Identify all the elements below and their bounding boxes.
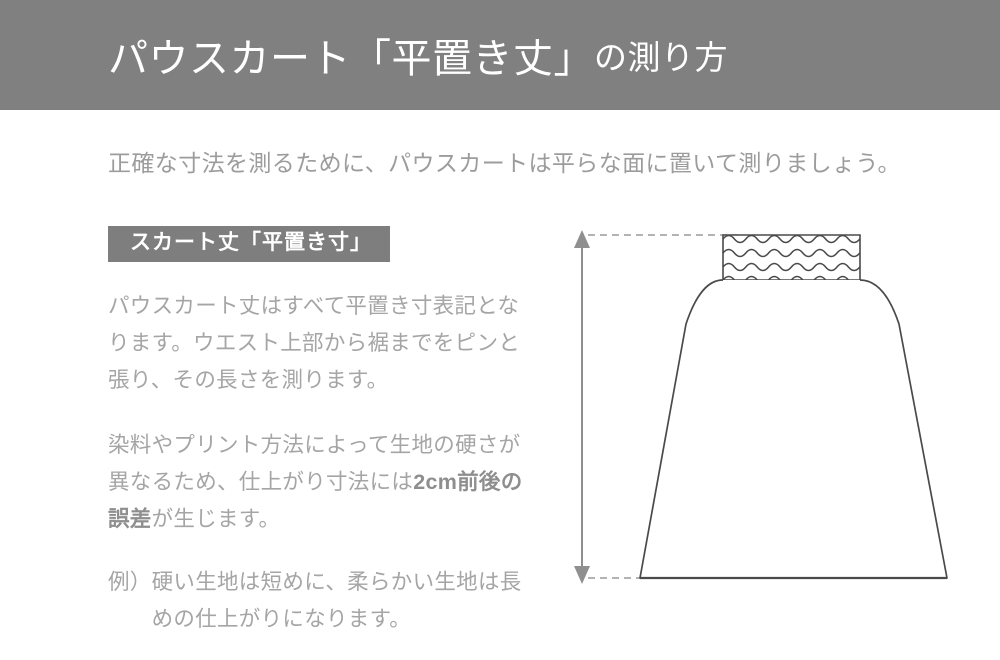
skirt-body-outline [640, 280, 947, 578]
page-title-main: パウスカート「平置き丈」 [108, 26, 594, 84]
section-header-band: スカート丈「平置き寸」 [108, 226, 390, 262]
paragraph-measurement-rule: パウスカート丈はすべて平置き寸表記となります。ウエスト上部から裾までをピンと張り… [108, 288, 528, 399]
tolerance-tail-text: が生じます。 [152, 507, 281, 531]
skirt-diagram [560, 214, 990, 604]
page-title: パウスカート「平置き丈」の測り方 [108, 0, 728, 110]
lead-sentence: 正確な寸法を測るために、パウスカートは平らな面に置いて測りましょう。 [108, 146, 938, 181]
example-text: 硬い生地は短めに、柔らかい生地は長めの仕上がりになります。 [152, 564, 528, 638]
measure-arrow-head-bottom [574, 566, 590, 584]
page-header-band: パウスカート「平置き丈」の測り方 [0, 0, 1000, 110]
paragraph-tolerance: 染料やプリント方法によって生地の硬さが異なるため、仕上がり寸法には2cm前後の誤… [108, 427, 528, 538]
content-left-column: スカート丈「平置き寸」 パウスカート丈はすべて平置き寸表記となります。ウエスト上… [108, 226, 528, 638]
page-title-tail: の測り方 [594, 31, 728, 79]
measure-arrow [574, 230, 590, 584]
measure-arrow-head-top [574, 230, 590, 248]
example-marker: 例） [108, 564, 152, 601]
skirt-diagram-svg [560, 214, 990, 604]
example-note: 例） 硬い生地は短めに、柔らかい生地は長めの仕上がりになります。 [108, 564, 528, 638]
waistband [723, 235, 860, 284]
